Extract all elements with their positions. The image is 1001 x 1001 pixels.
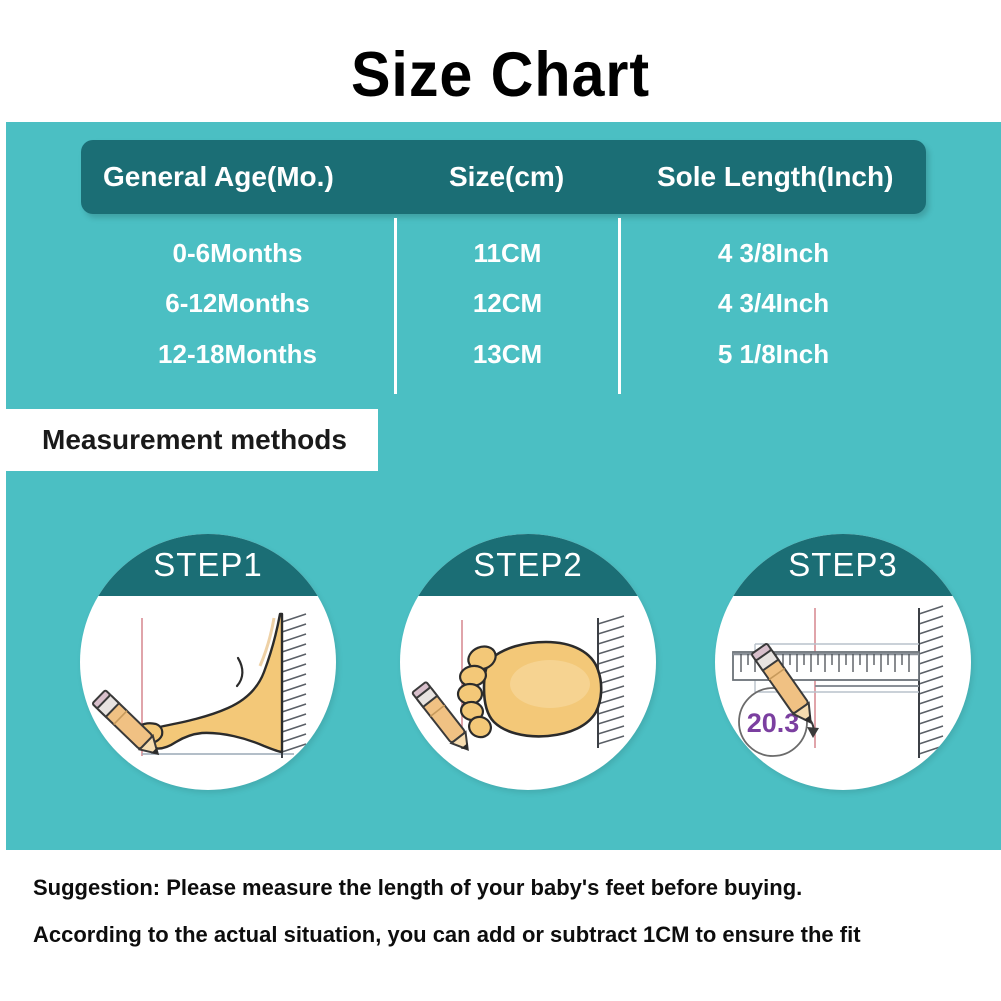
cell-general-age: 12-18Months [81, 329, 394, 379]
measurement-methods-label: Measurement methods [6, 424, 347, 456]
foot-side-view-with-pencil-icon [80, 596, 336, 790]
table-header-bar: General Age(Mo.) Size(cm) Sole Length(In… [81, 140, 926, 214]
table-row: 0-6Months 11CM 4 3/8Inch [81, 228, 926, 278]
step-label-1: STEP1 [153, 546, 263, 584]
cell-sole-length-inch: 4 3/4Inch [621, 278, 926, 328]
size-chart-panel: General Age(Mo.) Size(cm) Sole Length(In… [6, 122, 1001, 850]
suggestion-line-2: According to the actual situation, you c… [33, 922, 861, 948]
cell-size-cm: 12CM [397, 278, 618, 328]
measurement-methods-banner: Measurement methods [6, 409, 378, 471]
table-row: 6-12Months 12CM 4 3/4Inch [81, 278, 926, 328]
step-cap-1: STEP1 [80, 534, 336, 596]
column-header-sole-length-inch: Sole Length(Inch) [657, 140, 893, 214]
ruler-measure-with-pencil-icon: 20.3 [715, 596, 971, 790]
foot-bottom-view-with-pencil-icon [400, 596, 656, 790]
step-card-3: STEP3 [715, 534, 971, 790]
page-title: Size Chart [30, 40, 971, 110]
table-body: 0-6Months 11CM 4 3/8Inch 6-12Months 12CM… [81, 218, 926, 394]
step-label-2: STEP2 [473, 546, 583, 584]
cell-general-age: 0-6Months [81, 228, 394, 278]
table-row: 12-18Months 13CM 5 1/8Inch [81, 329, 926, 379]
step-label-3: STEP3 [788, 546, 898, 584]
cell-sole-length-inch: 5 1/8Inch [621, 329, 926, 379]
cell-sole-length-inch: 4 3/8Inch [621, 228, 926, 278]
title-area: Size Chart [0, 0, 1001, 122]
cell-general-age: 6-12Months [81, 278, 394, 328]
column-header-size-cm: Size(cm) [449, 140, 564, 214]
cell-size-cm: 13CM [397, 329, 618, 379]
step-card-1: STEP1 [80, 534, 336, 790]
cell-size-cm: 11CM [397, 228, 618, 278]
suggestion-area: Suggestion: Please measure the length of… [0, 850, 1001, 1001]
step-cap-3: STEP3 [715, 534, 971, 596]
step-cap-2: STEP2 [400, 534, 656, 596]
column-header-general-age: General Age(Mo.) [103, 140, 334, 214]
suggestion-line-1: Suggestion: Please measure the length of… [33, 875, 802, 901]
step-card-2: STEP2 [400, 534, 656, 790]
